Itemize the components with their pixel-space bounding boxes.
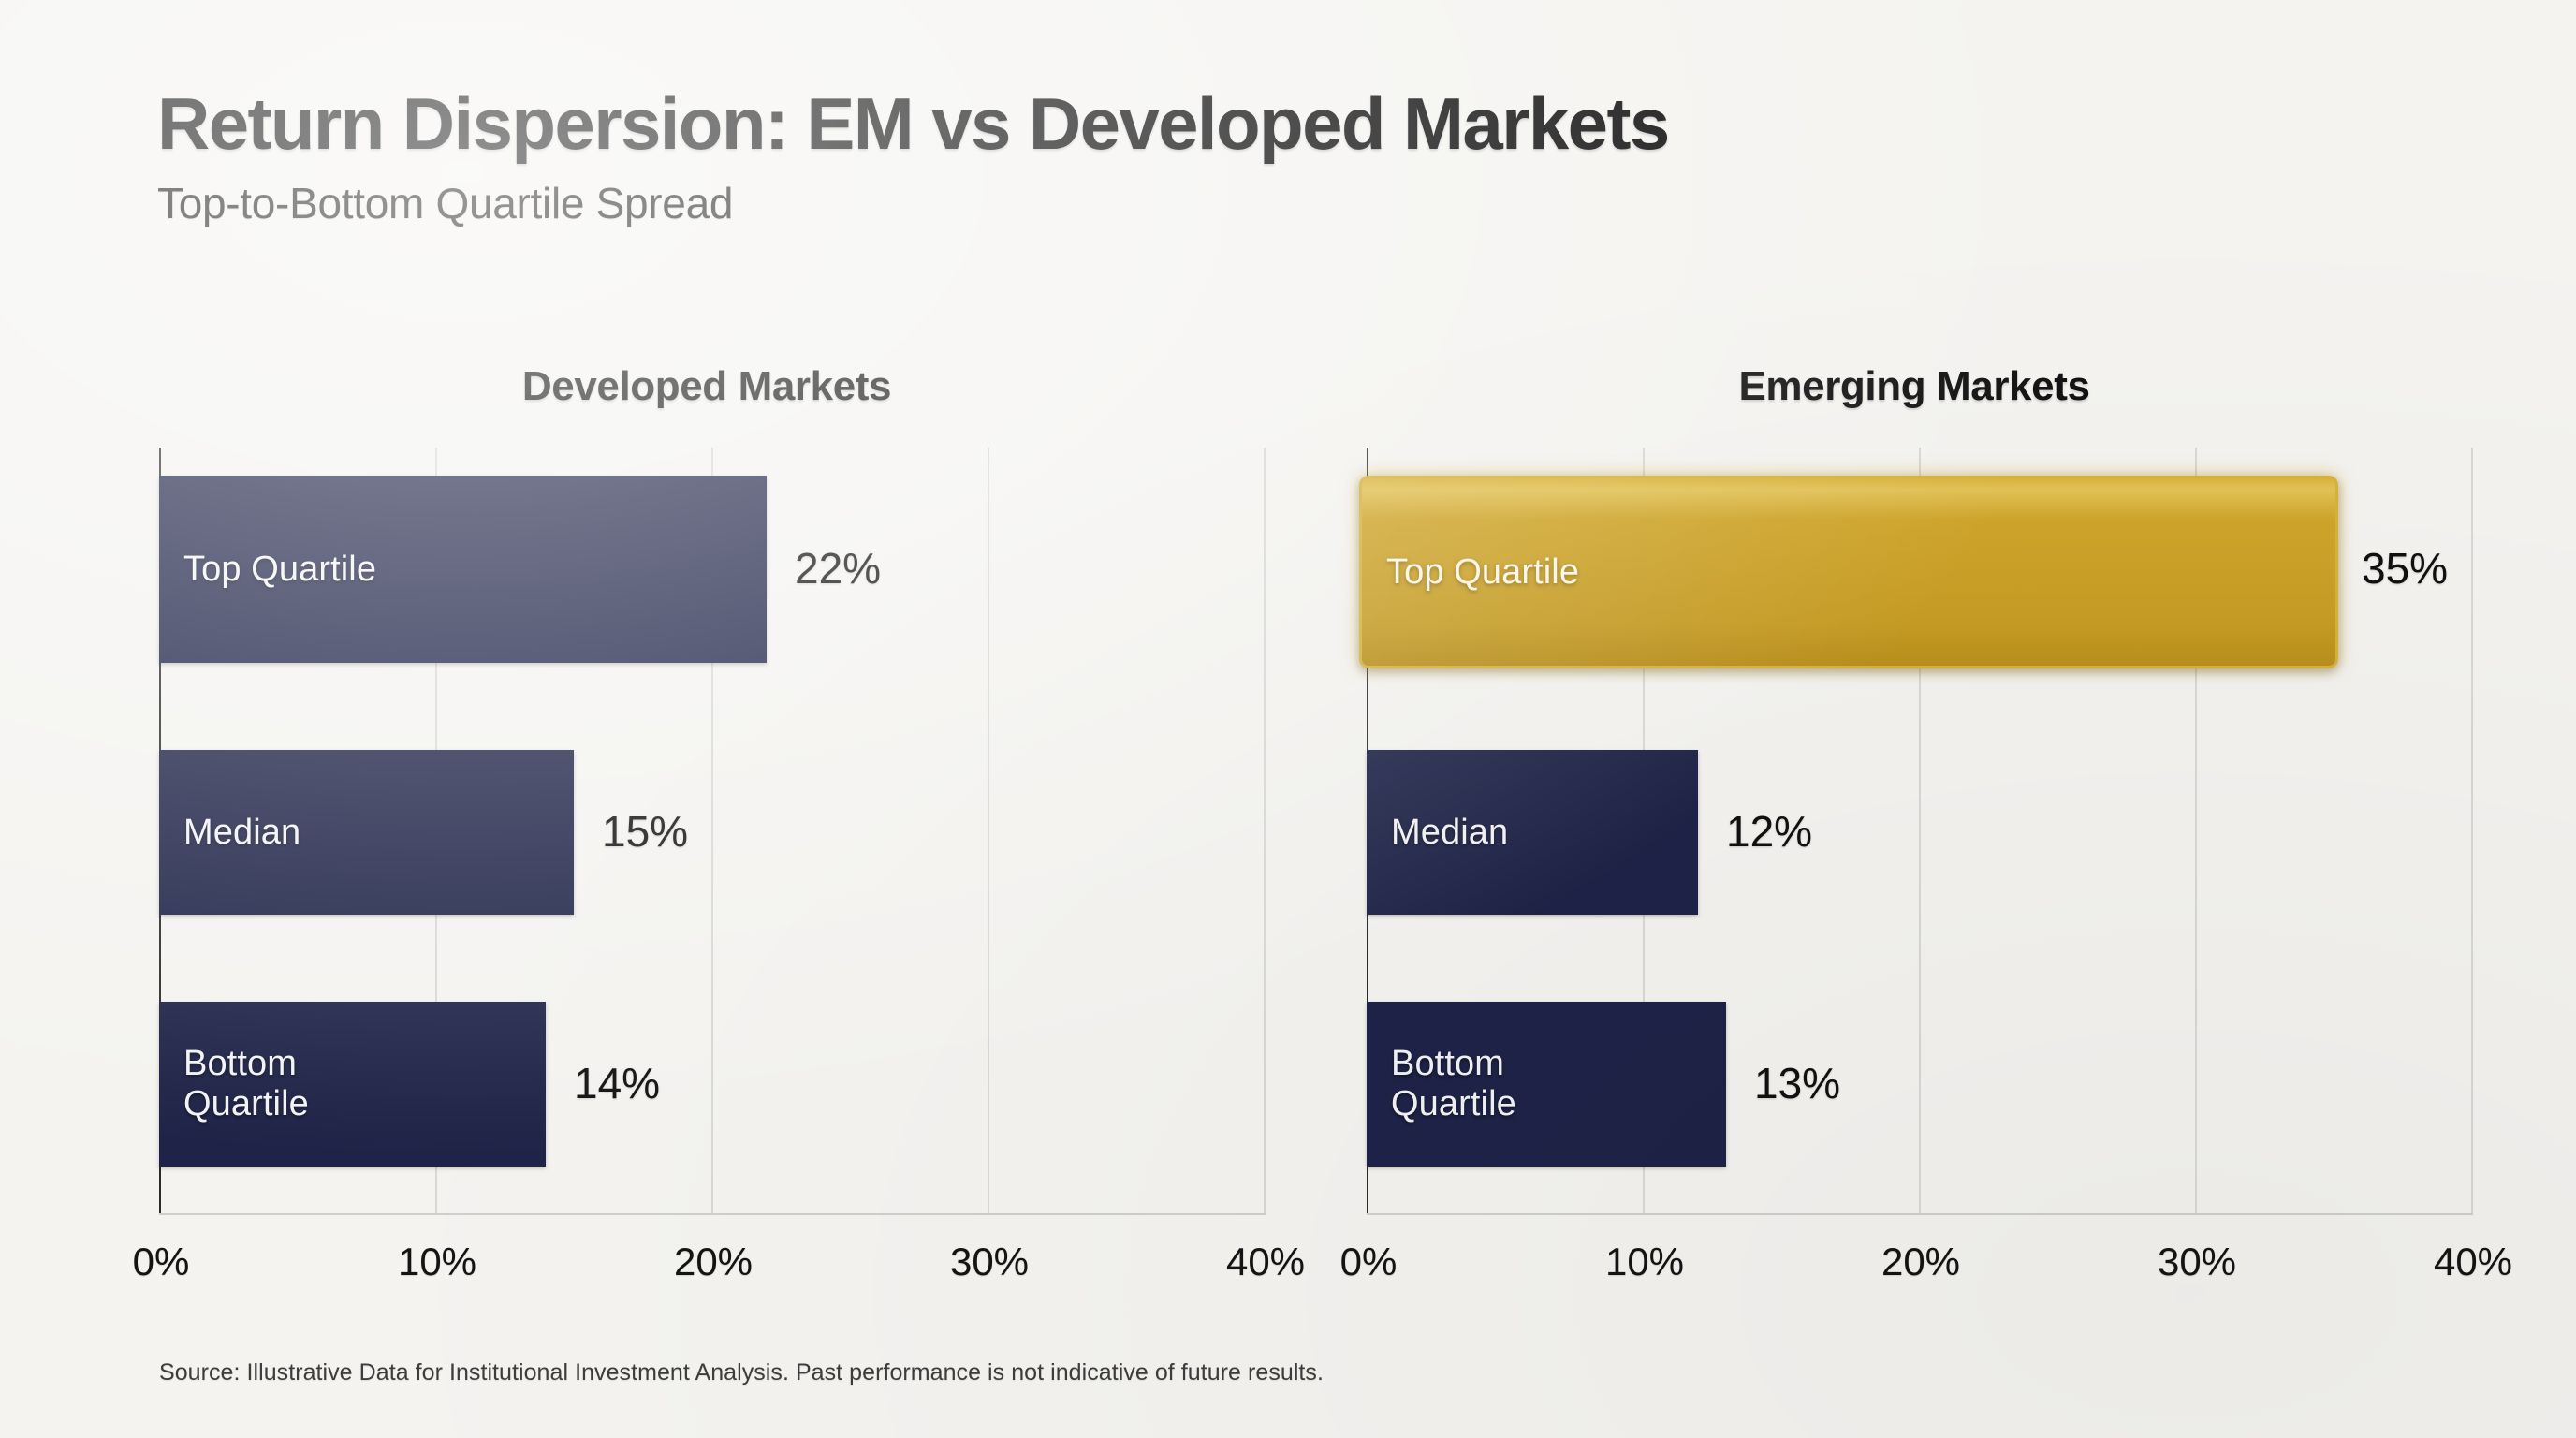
bar-label-developed-0: Top Quartile: [159, 550, 376, 590]
bar-emerging-bottom-quartile[interactable]: Bottom Quartile: [1367, 1002, 1726, 1167]
x-tick-developed-1: 10%: [398, 1240, 476, 1284]
x-tick-developed-3: 30%: [950, 1240, 1029, 1284]
x-tick-emerging-1: 10%: [1605, 1240, 1684, 1284]
x-tick-emerging-4: 40%: [2434, 1240, 2512, 1284]
page-subtitle: Top-to-Bottom Quartile Spread: [157, 180, 2404, 227]
bar-label-emerging-0: Top Quartile: [1362, 552, 1579, 593]
panel-title-developed: Developed Markets: [159, 363, 1254, 410]
plot-area-emerging: Top Quartile 35% Median 12% Bottom Quart…: [1367, 448, 2473, 1215]
value-label-emerging-0: 35%: [2362, 543, 2448, 594]
bar-label-emerging-2: Bottom Quartile: [1367, 1044, 1516, 1123]
bar-row-emerging-2[interactable]: Bottom Quartile 13%: [1367, 1002, 2473, 1167]
x-tick-developed-2: 20%: [674, 1240, 753, 1284]
x-tick-emerging-0: 0%: [1340, 1240, 1398, 1284]
bar-row-developed-2[interactable]: Bottom Quartile 14%: [159, 1002, 1266, 1167]
bar-row-emerging-1[interactable]: Median 12%: [1367, 750, 2473, 915]
bar-developed-median[interactable]: Median: [159, 750, 574, 915]
value-label-emerging-1: 12%: [1726, 806, 1812, 857]
x-tick-emerging-2: 20%: [1881, 1240, 1960, 1284]
bar-label-developed-1: Median: [159, 813, 300, 853]
value-label-developed-2: 14%: [574, 1058, 660, 1108]
panel-developed-markets: Developed Markets Top Quartile 22%: [159, 346, 1301, 1283]
bar-developed-top-quartile[interactable]: Top Quartile: [159, 476, 767, 663]
panel-title-emerging: Emerging Markets: [1367, 363, 2462, 410]
bar-label-emerging-1: Median: [1367, 813, 1508, 853]
x-tick-developed-0: 0%: [133, 1240, 190, 1284]
slide-canvas: Return Dispersion: EM vs Developed Marke…: [0, 0, 2576, 1438]
value-label-developed-1: 15%: [602, 806, 688, 857]
header: Return Dispersion: EM vs Developed Marke…: [157, 86, 2404, 227]
page-title: Return Dispersion: EM vs Developed Marke…: [157, 86, 2404, 163]
bar-row-emerging-0[interactable]: Top Quartile 35%: [1367, 476, 2473, 663]
x-axis-line-developed: [159, 1213, 1266, 1215]
value-label-developed-0: 22%: [795, 543, 881, 594]
panel-emerging-markets: Emerging Markets Top Quartile 35%: [1367, 346, 2509, 1283]
bar-row-developed-0[interactable]: Top Quartile 22%: [159, 476, 1266, 663]
plot-area-developed: Top Quartile 22% Median 15% Bottom Quart…: [159, 448, 1266, 1215]
x-tick-emerging-3: 30%: [2158, 1240, 2236, 1284]
bar-emerging-median[interactable]: Median: [1367, 750, 1698, 915]
bar-developed-bottom-quartile[interactable]: Bottom Quartile: [159, 1002, 546, 1167]
chart-panels: Developed Markets Top Quartile 22%: [0, 346, 2576, 1283]
source-footnote: Source: Illustrative Data for Institutio…: [159, 1359, 1324, 1387]
bar-emerging-top-quartile-highlighted[interactable]: Top Quartile: [1359, 476, 2338, 668]
x-tick-developed-4: 40%: [1226, 1240, 1305, 1284]
bar-label-developed-2: Bottom Quartile: [159, 1044, 309, 1123]
bar-row-developed-1[interactable]: Median 15%: [159, 750, 1266, 915]
x-axis-line-emerging: [1367, 1213, 2473, 1215]
value-label-emerging-2: 13%: [1754, 1058, 1840, 1108]
